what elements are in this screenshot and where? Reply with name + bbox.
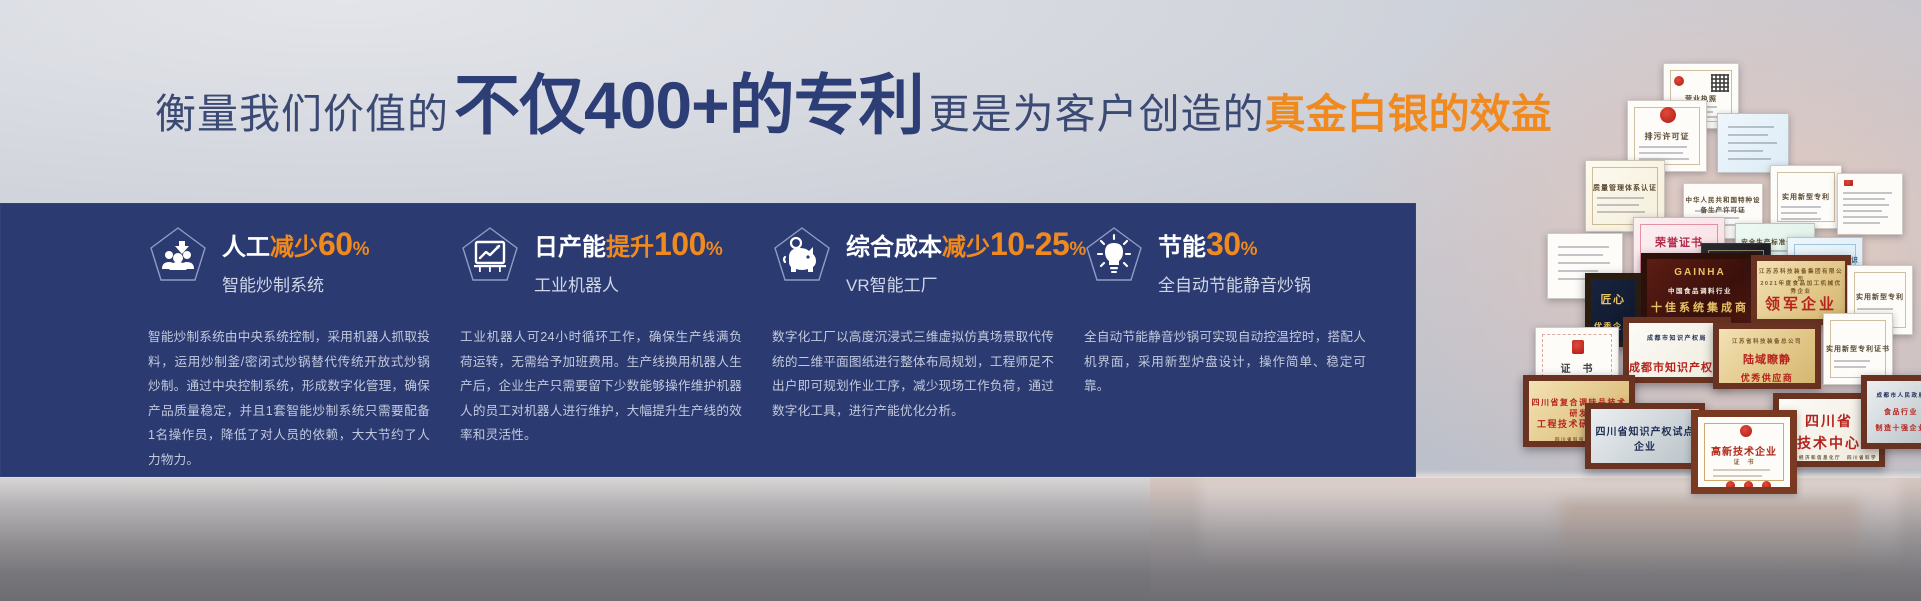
feature-subtitle: 全自动节能静音炒锅 [1158, 271, 1311, 296]
feature-item-energy: 节能30% 全自动节能静音炒锅 全自动节能静音炒锅可实现自动控温控时，搭配人机界… [1084, 225, 1396, 465]
chart-board-icon [460, 225, 520, 283]
feature-item-cost: 综合成本减少10-25% VR智能工厂 数字化工厂以高度沉浸式三维虚拟仿真场景取… [772, 225, 1084, 465]
feature-title: 节能30% [1158, 228, 1311, 262]
feature-title-number: 100 [654, 226, 706, 262]
feature-header: 日产能提升100% 工业机器人 [460, 225, 756, 303]
award-plaque: 江苏省科技装备总公司 陆域瞭静 优秀供应商 [1713, 323, 1821, 389]
feature-title-plain: 人工 [222, 234, 270, 261]
feature-item-capacity: 日产能提升100% 工业机器人 工业机器人可24小时循环工作，确保生产线满负荷运… [460, 225, 772, 465]
feature-title-percent: % [353, 239, 370, 260]
certificate [1837, 173, 1903, 235]
feature-title-percent: % [706, 239, 723, 260]
feature-titles: 日产能提升100% 工业机器人 [534, 225, 723, 296]
feature-body-text: 数字化工厂以高度沉浸式三维虚拟仿真场景取代传统的二维平面图纸进行整体布局规划，工… [772, 325, 1054, 423]
feature-subtitle: 智能炒制系统 [222, 271, 370, 296]
certificate: 实用新型专利 [1770, 165, 1842, 229]
feature-title-number: 60 [318, 226, 353, 262]
headline-emphasis: 不仅400+的专利 [454, 72, 924, 138]
feature-title: 人工减少60% [222, 228, 370, 262]
light-bulb-icon [1084, 225, 1144, 283]
feature-header: 综合成本减少10-25% VR智能工厂 [772, 225, 1068, 303]
feature-subtitle: 工业机器人 [534, 271, 723, 296]
feature-subtitle: VR智能工厂 [846, 271, 1086, 296]
features-panel: 人工减少60% 智能炒制系统 智能炒制系统由中央系统控制，采用机器人抓取投料，运… [0, 203, 1416, 477]
feature-title-highlight: 减少 [942, 234, 990, 261]
piggy-bank-icon [772, 225, 832, 283]
feature-title-highlight: 减少 [270, 234, 318, 261]
headline-middle: 更是为客户创造的 [929, 80, 1265, 140]
certificate-front: 高新技术企业 证 书 [1691, 410, 1797, 494]
features-list: 人工减少60% 智能炒制系统 智能炒制系统由中央系统控制，采用机器人抓取投料，运… [148, 225, 1398, 465]
feature-title: 日产能提升100% [534, 228, 723, 262]
people-group-icon [148, 225, 208, 283]
feature-header: 节能30% 全自动节能静音炒锅 [1084, 225, 1380, 303]
feature-title-plain: 节能 [1158, 234, 1206, 261]
certificate [1717, 113, 1789, 173]
feature-body-text: 工业机器人可24小时循环工作，确保生产线满负荷运转，无需给予加班费用。生产线换用… [460, 325, 742, 448]
feature-titles: 人工减少60% 智能炒制系统 [222, 225, 370, 296]
feature-title-plain: 日产能 [534, 234, 606, 261]
feature-item-labor: 人工减少60% 智能炒制系统 智能炒制系统由中央系统控制，采用机器人抓取投料，运… [148, 225, 460, 465]
feature-title-highlight: 提升 [606, 234, 654, 261]
feature-title-percent: % [1241, 239, 1258, 260]
award-plaque: 四川省知识产权试点企业 [1585, 403, 1705, 469]
feature-body-text: 全自动节能静音炒锅可实现自动控温控时，搭配人机界面，采用新型炉盘设计，操作简单、… [1084, 325, 1366, 399]
pile-reflection [1560, 500, 1860, 570]
feature-title-number: 30 [1206, 226, 1241, 262]
feature-title: 综合成本减少10-25% [846, 228, 1086, 262]
banner-stage: 衡量我们价值的 不仅400+的专利 更是为客户创造的 真金白银的效益 [0, 0, 1921, 601]
feature-title-plain: 综合成本 [846, 234, 942, 261]
certificate-pile: 营业执照 排污许可证 质量管理体系认证 [1395, 55, 1921, 500]
headline-lead: 衡量我们价值的 [155, 80, 449, 140]
feature-titles: 综合成本减少10-25% VR智能工厂 [846, 225, 1086, 296]
headline: 衡量我们价值的 不仅400+的专利 更是为客户创造的 真金白银的效益 [155, 72, 1552, 142]
feature-body-text: 智能炒制系统由中央系统控制，采用机器人抓取投料，运用炒制釜/密闭式炒锅替代传统开… [148, 325, 430, 472]
feature-title-number: 10-25 [990, 226, 1069, 262]
feature-titles: 节能30% 全自动节能静音炒锅 [1158, 225, 1311, 296]
feature-header: 人工减少60% 智能炒制系统 [148, 225, 444, 303]
award-plaque: 成都市人民政府 食品行业 制造十强企业 [1861, 375, 1921, 449]
